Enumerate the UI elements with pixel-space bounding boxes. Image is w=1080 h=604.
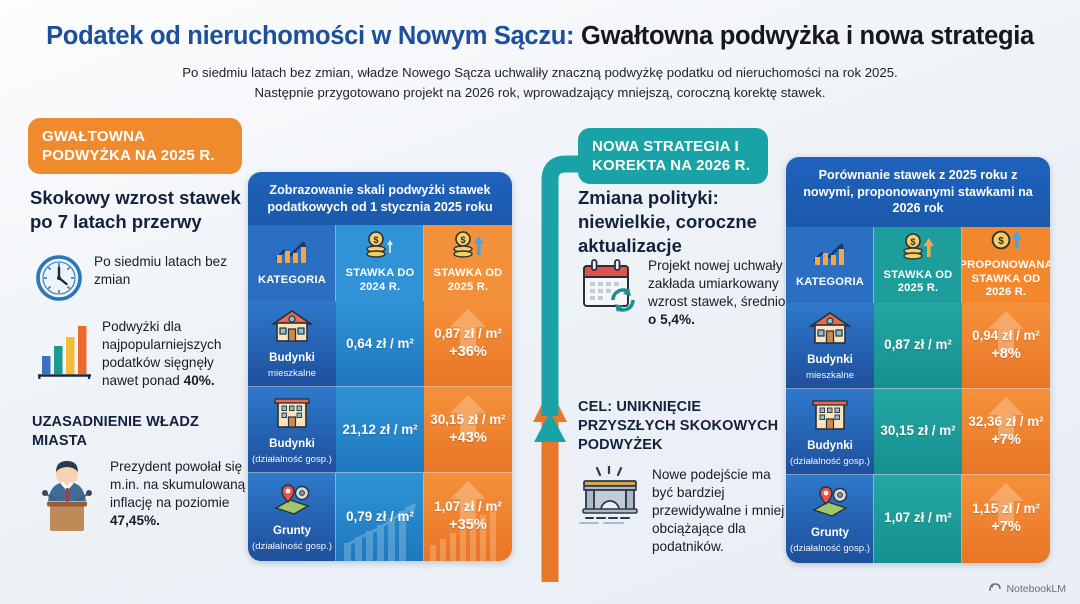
- table-2026-r0-category: Budynki mieszkalne: [786, 303, 874, 389]
- bridge-icon: [578, 466, 642, 533]
- table-2026-header-old: $ STAWKA OD 2025 R.: [874, 227, 962, 303]
- badge-2025-increase: GWAŁTOWNA PODWYŻKA NA 2025 R.: [28, 118, 242, 174]
- table-2026-r0-change: +8%: [991, 345, 1021, 364]
- table-2025-header-category: KATEGORIA: [248, 225, 336, 301]
- table-2025-r0-old-value: 0,64 zł / m²: [346, 336, 414, 353]
- land-plot-icon: [270, 482, 314, 521]
- svg-text:$: $: [998, 236, 1004, 247]
- table-2026-r0-new: 0,94 zł / m² +8%: [962, 303, 1050, 389]
- table-2025-r2-category-sub: (działalność gosp.): [252, 541, 332, 552]
- svg-text:$: $: [373, 235, 378, 245]
- table-2026-r2-old: 1,07 zł / m²: [874, 475, 962, 563]
- table-2026-r0-category-label: Budynki: [807, 353, 853, 367]
- table-2026-r2-new-value: 1,15 zł / m²: [972, 501, 1040, 518]
- table-2026-r1-old-value: 30,15 zł / m²: [880, 423, 955, 440]
- table-2026-r0-new-value: 0,94 zł / m²: [972, 328, 1040, 345]
- table-2025-r1-change: +43%: [449, 429, 487, 448]
- table-2026-r1-new-value: 32,36 zł / m²: [968, 414, 1043, 431]
- table-2025-r0-new-value: 0,87 zł / m²: [434, 326, 502, 343]
- office-building-icon: [809, 397, 851, 436]
- middle-bullet-1: Projekt nowej uchwały zakłada umiarkowan…: [578, 257, 788, 329]
- table-2025-header-new-label: STAWKA OD 2025 R.: [427, 267, 509, 294]
- table-row: Grunty (działalność gosp.) 0,79 zł / m²: [248, 473, 512, 561]
- table-2025-r2-new: 1,07 zł / m² +35%: [424, 473, 512, 561]
- table-2025-r1-category: Budynki (działalność gosp.): [248, 387, 336, 473]
- table-2026-r2-category-label: Grunty: [811, 526, 849, 540]
- table-2025-header-old-label: STAWKA DO 2024 R.: [339, 267, 421, 294]
- left-bullet-2-highlight: 40%.: [184, 373, 215, 388]
- left-bullet-3-text: Prezydent powołał się m.in. na skumulowa…: [110, 458, 246, 530]
- coins-up-arrow-icon: $: [449, 231, 487, 264]
- table-2026-r1-new: 32,36 zł / m² +7%: [962, 389, 1050, 475]
- left-bullet-1: Po siedmiu latach bez zmian: [34, 253, 239, 308]
- page-title: Podatek od nieruchomości w Nowym Sączu: …: [0, 22, 1080, 51]
- table-2026-header-old-label: STAWKA OD 2025 R.: [877, 269, 959, 296]
- land-plot-icon: [808, 484, 852, 523]
- table-2026-r2-old-value: 1,07 zł / m²: [884, 510, 952, 527]
- table-2025-r0-category: Budynki mieszkalne: [248, 301, 336, 387]
- svg-text:$: $: [910, 237, 915, 247]
- table-row: Budynki (działalność gosp.) 30,15 zł / m…: [786, 389, 1050, 475]
- house-icon: [271, 309, 313, 348]
- page-subtitle: Po siedmiu latach bez zmian, władze Nowe…: [0, 63, 1080, 104]
- table-2025-title: Zobrazowanie skali podwyżki stawek podat…: [248, 172, 512, 225]
- table-2025-r1-category-label: Budynki: [269, 437, 315, 451]
- table-2026-r0-old-value: 0,87 zł / m²: [884, 337, 952, 354]
- table-2026-r0-category-sub: mieszkalne: [806, 370, 854, 381]
- clock-icon: [34, 253, 84, 308]
- calendar-refresh-icon: [578, 257, 638, 320]
- middle-bullet-2: Nowe podejście ma być bardziej przewidyw…: [578, 466, 790, 556]
- left-column-heading: Skokowy wzrost stawek po 7 latach przerw…: [30, 186, 245, 234]
- coin-up-arrow-icon: $: [987, 229, 1025, 256]
- left-bullet-3: Prezydent powołał się m.in. na skumulowa…: [34, 458, 246, 539]
- coins-icon: $: [361, 231, 399, 264]
- office-building-icon: [271, 395, 313, 434]
- table-2026-r2-category: Grunty (działalność gosp.): [786, 475, 874, 563]
- left-bullet-3-body: Prezydent powołał się m.in. na skumulowa…: [110, 459, 245, 510]
- table-2025-header-row: KATEGORIA $ STAWKA DO 2024 R.: [248, 225, 512, 301]
- table-2025-r1-old: 21,12 zł / m²: [336, 387, 424, 473]
- speaker-podium-icon: [34, 458, 100, 539]
- watermark: NotebookLM: [989, 582, 1066, 596]
- table-2025-r2-old-value: 0,79 zł / m²: [346, 509, 414, 526]
- watermark-label: NotebookLM: [1006, 583, 1066, 595]
- table-2025-header-new: $ STAWKA OD 2025 R.: [424, 225, 512, 301]
- table-2025-r2-category: Grunty (działalność gosp.): [248, 473, 336, 561]
- infographic-page: Podatek od nieruchomości w Nowym Sączu: …: [0, 0, 1080, 604]
- table-2025-r2-new-value: 1,07 zł / m²: [434, 499, 502, 516]
- table-2025-r1-category-sub: (działalność gosp.): [252, 454, 332, 465]
- table-2025-r0-old: 0,64 zł / m²: [336, 301, 424, 387]
- table-row: Budynki mieszkalne 0,87 zł / m² 0,94 zł …: [786, 303, 1050, 389]
- left-section-label: UZASADNIENIE WŁADZ MIASTA: [32, 413, 244, 451]
- middle-bullet-1-body: Projekt nowej uchwały zakłada umiarkowan…: [648, 258, 786, 309]
- table-2025-r1-old-value: 21,12 zł / m²: [342, 422, 417, 439]
- table-2025-r2-old: 0,79 zł / m²: [336, 473, 424, 561]
- bar-chart-icon: [34, 318, 92, 385]
- table-2025-r1-new: 30,15 zł / m² +43%: [424, 387, 512, 473]
- table-2026-r1-category-label: Budynki: [807, 439, 853, 453]
- table-row: Budynki mieszkalne 0,64 zł / m² 0,87 zł …: [248, 301, 512, 387]
- table-2025-r1-new-value: 30,15 zł / m²: [430, 412, 505, 429]
- table-2025-header-old: $ STAWKA DO 2024 R.: [336, 225, 424, 301]
- table-2026-r2-new: 1,15 zł / m² +7%: [962, 475, 1050, 563]
- middle-bullet-2-text: Nowe podejście ma być bardziej przewidyw…: [652, 466, 790, 556]
- table-2026-header-category-label: KATEGORIA: [796, 276, 864, 289]
- growth-chart-icon: [273, 238, 311, 271]
- table-2025-r0-category-label: Budynki: [269, 351, 315, 365]
- table-2025-r0-change: +36%: [449, 343, 487, 362]
- table-2026-r1-category: Budynki (działalność gosp.): [786, 389, 874, 475]
- table-2026-header-new-label: PROPONOWANA STAWKA OD 2026 R.: [962, 259, 1050, 299]
- badge-2026-strategy: NOWA STRATEGIA I KOREKTA NA 2026 R.: [578, 128, 768, 184]
- table-2026-r2-category-sub: (działalność gosp.): [790, 543, 870, 554]
- table-2026: Porównanie stawek z 2025 roku z nowymi, …: [786, 157, 1050, 563]
- coins-up-arrow-icon: $: [899, 233, 937, 266]
- left-bullet-2-text: Podwyżki dla najpopularniejszych podatkó…: [102, 318, 244, 390]
- middle-bullet-1-text: Projekt nowej uchwały zakłada umiarkowan…: [648, 257, 788, 329]
- table-2026-header-new: $ PROPONOWANA STAWKA OD 2026 R.: [962, 227, 1050, 303]
- svg-text:$: $: [460, 235, 465, 245]
- left-bullet-3-highlight: 47,45%.: [110, 513, 160, 528]
- growth-chart-icon: [811, 240, 849, 273]
- table-2025: Zobrazowanie skali podwyżki stawek podat…: [248, 172, 512, 561]
- subtitle-line-2: Następnie przygotowano projekt na 2026 r…: [0, 83, 1080, 103]
- left-bullet-2: Podwyżki dla najpopularniejszych podatkó…: [34, 318, 244, 390]
- table-2025-r2-change: +35%: [449, 516, 487, 535]
- table-row: Budynki (działalność gosp.) 21,12 zł / m…: [248, 387, 512, 473]
- table-2026-header-row: KATEGORIA $ STAWKA OD 2025 R.: [786, 227, 1050, 303]
- table-2025-r2-category-label: Grunty: [273, 524, 311, 538]
- table-2025-r0-new: 0,87 zł / m² +36%: [424, 301, 512, 387]
- table-2025-r0-category-sub: mieszkalne: [268, 368, 316, 379]
- table-2025-header-category-label: KATEGORIA: [258, 274, 326, 287]
- notebooklm-icon: [989, 582, 1002, 596]
- table-row: Grunty (działalność gosp.) 1,07 zł / m² …: [786, 475, 1050, 563]
- table-2026-r1-old: 30,15 zł / m²: [874, 389, 962, 475]
- table-2026-r0-old: 0,87 zł / m²: [874, 303, 962, 389]
- table-2026-r1-category-sub: (działalność gosp.): [790, 456, 870, 467]
- table-2026-title: Porównanie stawek z 2025 roku z nowymi, …: [786, 157, 1050, 227]
- page-header: Podatek od nieruchomości w Nowym Sączu: …: [0, 22, 1080, 104]
- subtitle-line-1: Po siedmiu latach bez zmian, władze Nowe…: [0, 63, 1080, 83]
- house-icon: [809, 311, 851, 350]
- page-title-secondary: Gwałtowna podwyżka i nowa strategia: [581, 22, 1034, 50]
- table-2026-header-category: KATEGORIA: [786, 227, 874, 303]
- page-title-primary: Podatek od nieruchomości w Nowym Sączu:: [46, 22, 574, 50]
- left-bullet-1-text: Po siedmiu latach bez zmian: [94, 253, 239, 289]
- table-2026-r1-change: +7%: [991, 431, 1021, 450]
- middle-section-label: CEL: UNIKNIĘCIE PRZYSZŁYCH SKOKOWYCH POD…: [578, 398, 783, 455]
- middle-column-heading: Zmiana polityki: niewielkie, coroczne ak…: [578, 186, 778, 258]
- middle-bullet-1-highlight: o 5,4%.: [648, 312, 695, 327]
- table-2026-r2-change: +7%: [991, 518, 1021, 537]
